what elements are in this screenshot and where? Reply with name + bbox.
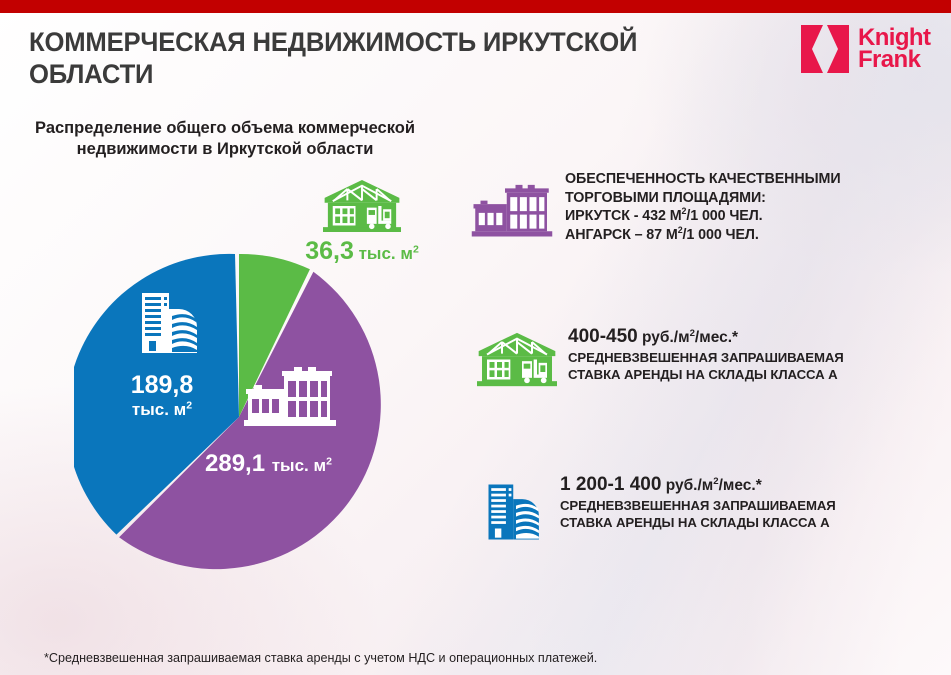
warehouse-icon (477, 331, 557, 388)
fact-headline-office: 1 200-1 400 руб./м2/мес.* (560, 473, 836, 497)
fact-line-4: АНГАРСК – 87 М2/1 000 ЧЕЛ. (565, 226, 841, 245)
fact-sub-office-1: СРЕДНЕВЗВЕШЕННАЯ ЗАПРАШИВАЕМАЯ (560, 497, 836, 514)
retail-building-icon (470, 184, 554, 240)
fact-warehouse-rate: 400-450 руб./м2/мес.* СРЕДНЕВЗВЕШЕННАЯ З… (477, 323, 844, 393)
page-title: КОММЕРЧЕСКАЯ НЕДВИЖИМОСТЬ ИРКУТСКОЙ ОБЛА… (29, 26, 694, 90)
fact-body-office: 1 200-1 400 руб./м2/мес.* СРЕДНЕВЗВЕШЕНН… (560, 471, 836, 531)
fact-icon-office (483, 477, 549, 552)
office-building-icon (136, 287, 208, 359)
footnote: *Средневзвешенная запрашиваемая ставка а… (44, 650, 597, 666)
office-building-icon (483, 477, 549, 547)
pie-label-office: 189,8 тыс. м2 (102, 372, 222, 420)
fact-office-rate: 1 200-1 400 руб./м2/мес.* СРЕДНЕВЗВЕШЕНН… (483, 471, 836, 552)
retail-building-icon (242, 367, 338, 429)
fact-sub-warehouse-1: СРЕДНЕВЗВЕШЕННАЯ ЗАПРАШИВАЕМАЯ (568, 349, 844, 366)
fact-sub-warehouse-2: СТАВКА АРЕНДЫ НА СКЛАДЫ КЛАССА А (568, 366, 844, 383)
infographic-page: КОММЕРЧЕСКАЯ НЕДВИЖИМОСТЬ ИРКУТСКОЙ ОБЛА… (0, 0, 951, 675)
fact-retail-provision: ОБЕСПЕЧЕННОСТЬ КАЧЕСТВЕННЫМИ ТОРГОВЫМИ П… (470, 168, 841, 245)
pie-label-retail-value: 289,1 (205, 450, 265, 477)
fact-icon-retail (470, 184, 554, 245)
fact-line-1: ОБЕСПЕЧЕННОСТЬ КАЧЕСТВЕННЫМИ (565, 170, 841, 189)
knight-frank-logo: Knight Frank (799, 20, 931, 78)
warehouse-icon (323, 178, 401, 234)
fact-body-warehouse: 400-450 руб./м2/мес.* СРЕДНЕВЗВЕШЕННАЯ З… (568, 323, 844, 383)
pie-label-office-unit: тыс. м2 (102, 400, 222, 420)
chart-title: Распределение общего объема коммерческой… (30, 118, 420, 160)
pie-label-retail: 289,1 тыс. м2 (205, 450, 395, 480)
pie-label-retail-unit: тыс. м2 (272, 456, 332, 475)
fact-line-3: ИРКУТСК - 432 М2/1 000 ЧЕЛ. (565, 207, 841, 226)
warehouse-callout-value: 36,3 тыс. м2 (272, 237, 452, 268)
fact-icon-warehouse (477, 331, 557, 393)
warehouse-callout: 36,3 тыс. м2 (272, 178, 452, 268)
top-red-bar (0, 0, 951, 13)
knight-frank-diamond-mark (799, 23, 851, 75)
fact-line-2: ТОРГОВЫМИ ПЛОЩАДЯМИ: (565, 189, 841, 208)
logo-line-2: Frank (858, 49, 930, 71)
fact-body-retail: ОБЕСПЕЧЕННОСТЬ КАЧЕСТВЕННЫМИ ТОРГОВЫМИ П… (565, 168, 841, 244)
fact-sub-office-2: СТАВКА АРЕНДЫ НА СКЛАДЫ КЛАССА А (560, 514, 836, 531)
fact-headline-warehouse: 400-450 руб./м2/мес.* (568, 325, 844, 349)
pie-label-office-value: 189,8 (131, 371, 194, 399)
